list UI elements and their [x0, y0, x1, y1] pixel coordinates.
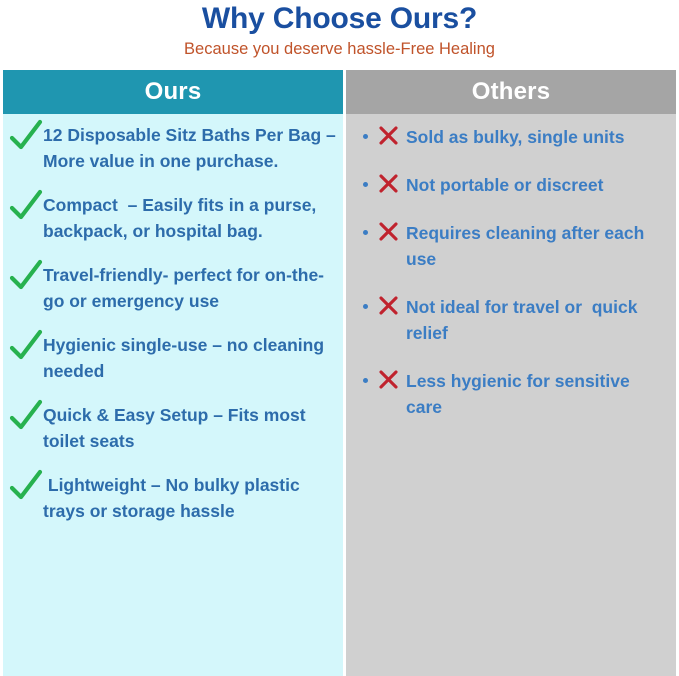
- check-icon: [9, 189, 43, 223]
- list-item: Hygienic single-use – no cleaning needed: [7, 332, 337, 384]
- cross-icon: [378, 295, 399, 316]
- list-item: Travel-friendly- perfect for on-the-go o…: [7, 262, 337, 314]
- page-subtitle: Because you deserve hassle-Free Healing: [0, 39, 679, 59]
- list-item-label: Compact – Easily fits in a purse, backpa…: [43, 192, 337, 244]
- list-item-label: Travel-friendly- perfect for on-the-go o…: [43, 262, 337, 314]
- list-item-label: Not portable or discreet: [406, 172, 668, 198]
- list-item-label: Less hygienic for sensitive care: [406, 368, 668, 420]
- list-item-label: 12 Disposable Sitz Baths Per Bag – More …: [43, 122, 337, 174]
- check-icon: [9, 329, 43, 363]
- column-body-others: Sold as bulky, single units Not portable…: [346, 114, 676, 676]
- list-item-label: Requires cleaning after each use: [406, 220, 668, 272]
- column-ours: Ours 12 Disposable Sitz Baths Per Bag – …: [3, 70, 343, 676]
- list-item: Sold as bulky, single units: [360, 124, 668, 150]
- list-item-label: Hygienic single-use – no cleaning needed: [43, 332, 337, 384]
- page-title: Why Choose Ours?: [0, 2, 679, 36]
- list-item-label: Lightweight – No bulky plastic trays or …: [43, 472, 337, 524]
- list-item: Not ideal for travel or quick relief: [360, 294, 668, 346]
- comparison-infographic: Why Choose Ours? Because you deserve has…: [0, 0, 679, 676]
- column-others: Others Sold as bulky, single units: [346, 70, 676, 676]
- heading-block: Why Choose Ours? Because you deserve has…: [0, 0, 679, 59]
- list-item-label: Sold as bulky, single units: [406, 124, 668, 150]
- list-item: Less hygienic for sensitive care: [360, 368, 668, 420]
- cross-icon: [378, 173, 399, 194]
- cross-icon: [378, 125, 399, 146]
- check-icon: [9, 259, 43, 293]
- list-item: 12 Disposable Sitz Baths Per Bag – More …: [7, 122, 337, 174]
- comparison-table: Ours 12 Disposable Sitz Baths Per Bag – …: [3, 70, 676, 676]
- column-header-others: Others: [346, 70, 676, 114]
- bullet-icon: [363, 134, 368, 139]
- bullet-icon: [363, 230, 368, 235]
- column-header-ours: Ours: [3, 70, 343, 114]
- cross-icon: [378, 369, 399, 390]
- list-item: Compact – Easily fits in a purse, backpa…: [7, 192, 337, 244]
- bullet-icon: [363, 182, 368, 187]
- list-item: Lightweight – No bulky plastic trays or …: [7, 472, 337, 524]
- bullet-icon: [363, 304, 368, 309]
- check-icon: [9, 469, 43, 503]
- others-drawback-list: Sold as bulky, single units Not portable…: [346, 114, 676, 420]
- list-item-label: Not ideal for travel or quick relief: [406, 294, 668, 346]
- check-icon: [9, 119, 43, 153]
- list-item: Quick & Easy Setup – Fits most toilet se…: [7, 402, 337, 454]
- ours-benefit-list: 12 Disposable Sitz Baths Per Bag – More …: [3, 114, 343, 524]
- column-body-ours: 12 Disposable Sitz Baths Per Bag – More …: [3, 114, 343, 676]
- cross-icon: [378, 221, 399, 242]
- check-icon: [9, 399, 43, 433]
- list-item: Requires cleaning after each use: [360, 220, 668, 272]
- bullet-icon: [363, 378, 368, 383]
- list-item: Not portable or discreet: [360, 172, 668, 198]
- list-item-label: Quick & Easy Setup – Fits most toilet se…: [43, 402, 337, 454]
